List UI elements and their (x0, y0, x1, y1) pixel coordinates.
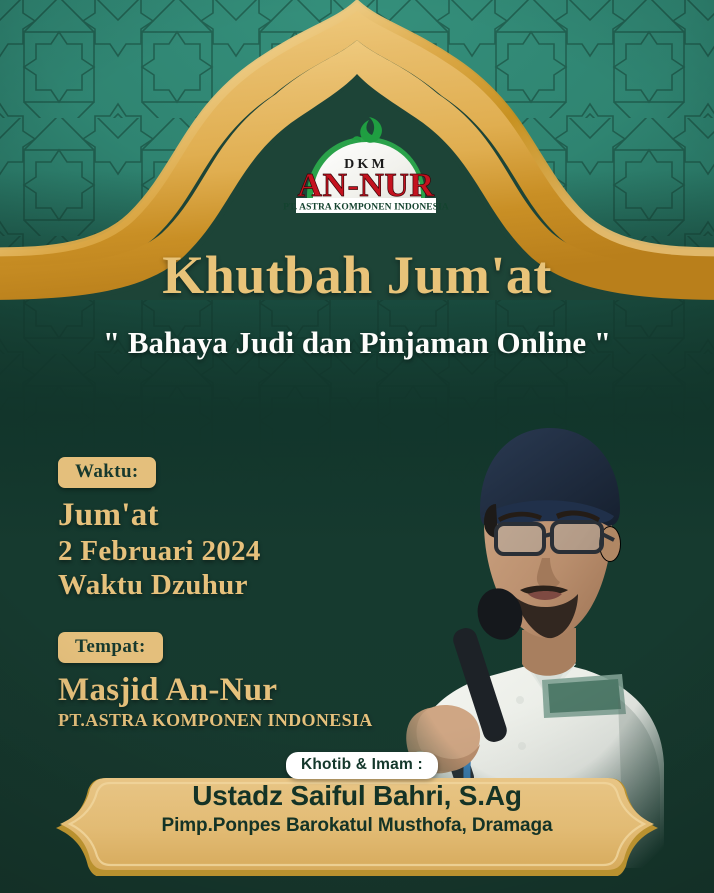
khotib-imam-pill: Khotib & Imam : (286, 752, 438, 779)
speaker-name: Ustadz Saiful Bahri, S.Ag (0, 780, 714, 812)
speaker-text-group: Ustadz Saiful Bahri, S.Ag Pimp.Ponpes Ba… (0, 780, 714, 838)
speaker-role: Pimp.Ponpes Barokatul Musthofa, Dramaga (0, 815, 714, 838)
poster-canvas: DKM AN-NUR PT. ASTRA KOMPONEN INDONESIA … (0, 0, 714, 893)
